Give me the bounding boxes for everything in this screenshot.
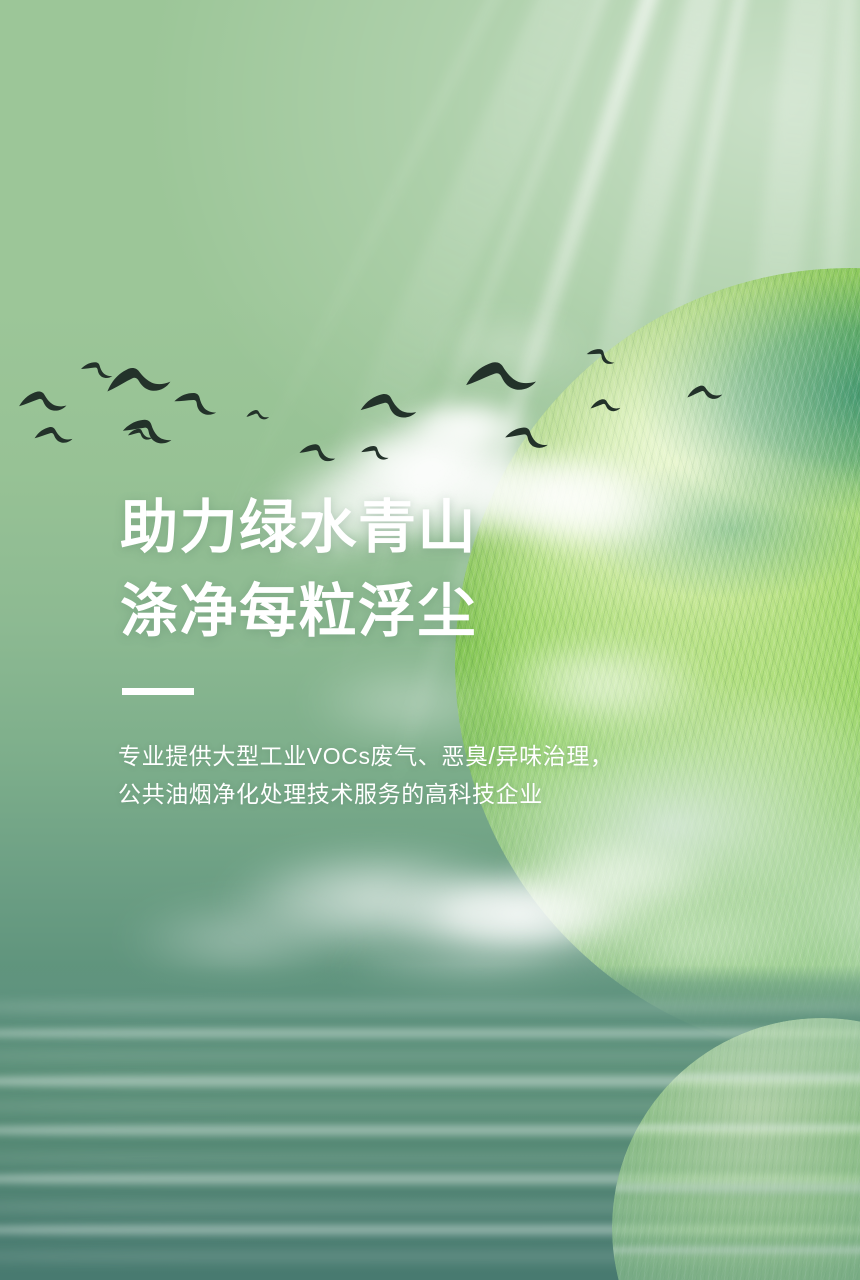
subtitle-line-2: 公共油烟净化处理技术服务的高科技企业 — [118, 775, 680, 813]
headline-line-1: 助力绿水青山 — [120, 486, 680, 570]
reflection-streak — [612, 1180, 860, 1196]
divider-rule — [122, 688, 194, 695]
globe-reflection — [612, 1018, 860, 1280]
subtitle-line-1: 专业提供大型工业VOCs废气、恶臭/异味治理， — [118, 737, 680, 775]
eco-poster: 助力绿水青山 涤净每粒浮尘 专业提供大型工业VOCs废气、恶臭/异味治理， 公共… — [0, 0, 860, 1280]
reflection-streak — [612, 1070, 860, 1084]
reflection-streak — [612, 1244, 860, 1256]
water-wave — [0, 999, 860, 1015]
reflection-streak — [612, 1122, 860, 1133]
text-block: 助力绿水青山 涤净每粒浮尘 专业提供大型工业VOCs废气、恶臭/异味治理， 公共… — [120, 486, 680, 813]
headline-line-2: 涤净每粒浮尘 — [120, 570, 680, 654]
